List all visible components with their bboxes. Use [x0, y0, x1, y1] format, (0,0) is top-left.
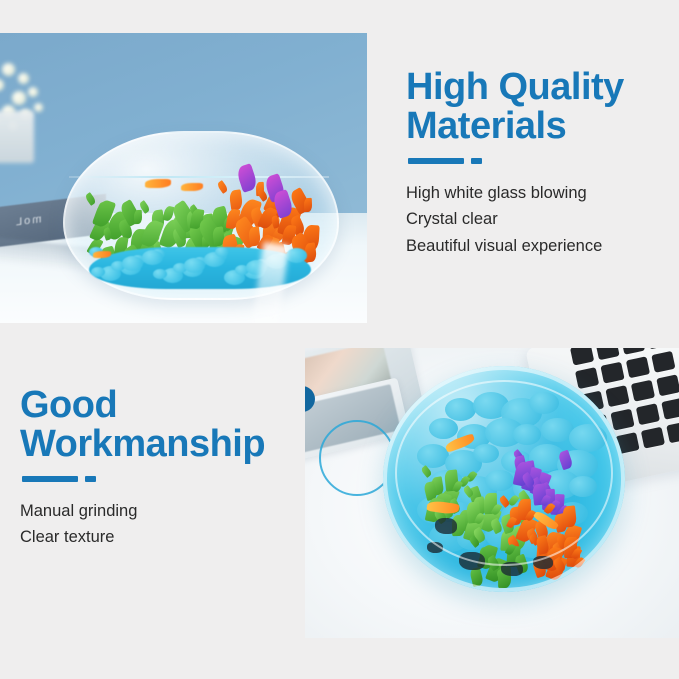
keyboard-key	[600, 362, 624, 384]
keyboard-key	[641, 427, 665, 449]
pebble	[122, 256, 143, 271]
page-title-good-workmanship: Good Workmanship	[20, 386, 320, 464]
accent-rule-long-bar	[408, 158, 464, 164]
high-quality-materials-text-block: High Quality Materials High white glass …	[406, 68, 674, 260]
headline-line-2: Workmanship	[20, 425, 320, 464]
pebble	[142, 250, 163, 265]
fish	[181, 183, 203, 191]
fish-bowl-top-view-photo	[305, 348, 679, 638]
plant-leaf	[304, 198, 312, 212]
fish-bowl-side-view-photo: moL	[0, 33, 367, 323]
keyboard-key	[651, 351, 675, 373]
page-title-high-quality: High Quality Materials	[406, 68, 674, 146]
feature-list-materials: High white glass blowing Crystal clear B…	[406, 180, 674, 260]
flower-blossom	[12, 91, 26, 105]
keyboard-key	[610, 409, 634, 431]
keyboard-key	[666, 421, 679, 443]
pebble	[91, 267, 105, 277]
pebble	[286, 248, 307, 263]
plant-leaf	[229, 189, 244, 211]
keyboard-key	[595, 348, 619, 360]
keyboard-key	[631, 380, 655, 402]
headline-line-1: High Quality	[406, 68, 674, 107]
flower-blossom	[2, 63, 15, 76]
list-item: High white glass blowing	[406, 180, 674, 207]
feature-list-workmanship: Manual grinding Clear texture	[20, 498, 320, 551]
good-workmanship-text-block: Good Workmanship Manual grinding Clear t…	[20, 386, 320, 551]
pebble	[215, 247, 229, 257]
keyboard-key	[661, 398, 679, 420]
keyboard-key	[656, 374, 679, 396]
plant-leaf	[216, 180, 229, 194]
plant-leaf	[138, 200, 151, 214]
keyboard-key	[626, 356, 650, 378]
list-item: Crystal clear	[406, 206, 674, 233]
flower-blossom	[18, 73, 29, 84]
headline-line-1: Good	[20, 386, 320, 425]
pebble	[153, 269, 167, 279]
product-feature-page: moL High Quality Materials High white gl…	[0, 0, 679, 679]
headline-line-2: Materials	[406, 107, 674, 146]
keyboard-key	[575, 367, 599, 389]
glass-fish-bowl	[63, 131, 335, 296]
pebble	[184, 258, 205, 273]
accent-rule-short-dash	[85, 476, 96, 482]
list-item: Manual grinding	[20, 498, 320, 525]
keyboard-key	[605, 385, 629, 407]
list-item: Beautiful visual experience	[406, 233, 674, 260]
accent-rule-short-dash	[471, 158, 482, 164]
water-line	[69, 176, 329, 178]
accent-rule	[22, 476, 320, 482]
keyboard-key	[636, 403, 660, 425]
flower-blossom	[0, 79, 4, 91]
fish	[93, 251, 111, 258]
glass-fish-bowl-top	[383, 366, 625, 592]
accent-rule	[408, 158, 674, 164]
flower-vase	[0, 111, 34, 163]
fish	[145, 179, 171, 188]
keyboard-key	[646, 348, 670, 349]
keyboard-key	[621, 348, 645, 355]
list-item: Clear texture	[20, 524, 320, 551]
flower-blossom	[28, 87, 38, 97]
keyboard-key	[570, 348, 594, 366]
flower-blossom	[34, 103, 43, 112]
plant-leaf	[84, 192, 97, 206]
accent-rule-long-bar	[22, 476, 78, 482]
bowl-rim	[383, 366, 625, 592]
